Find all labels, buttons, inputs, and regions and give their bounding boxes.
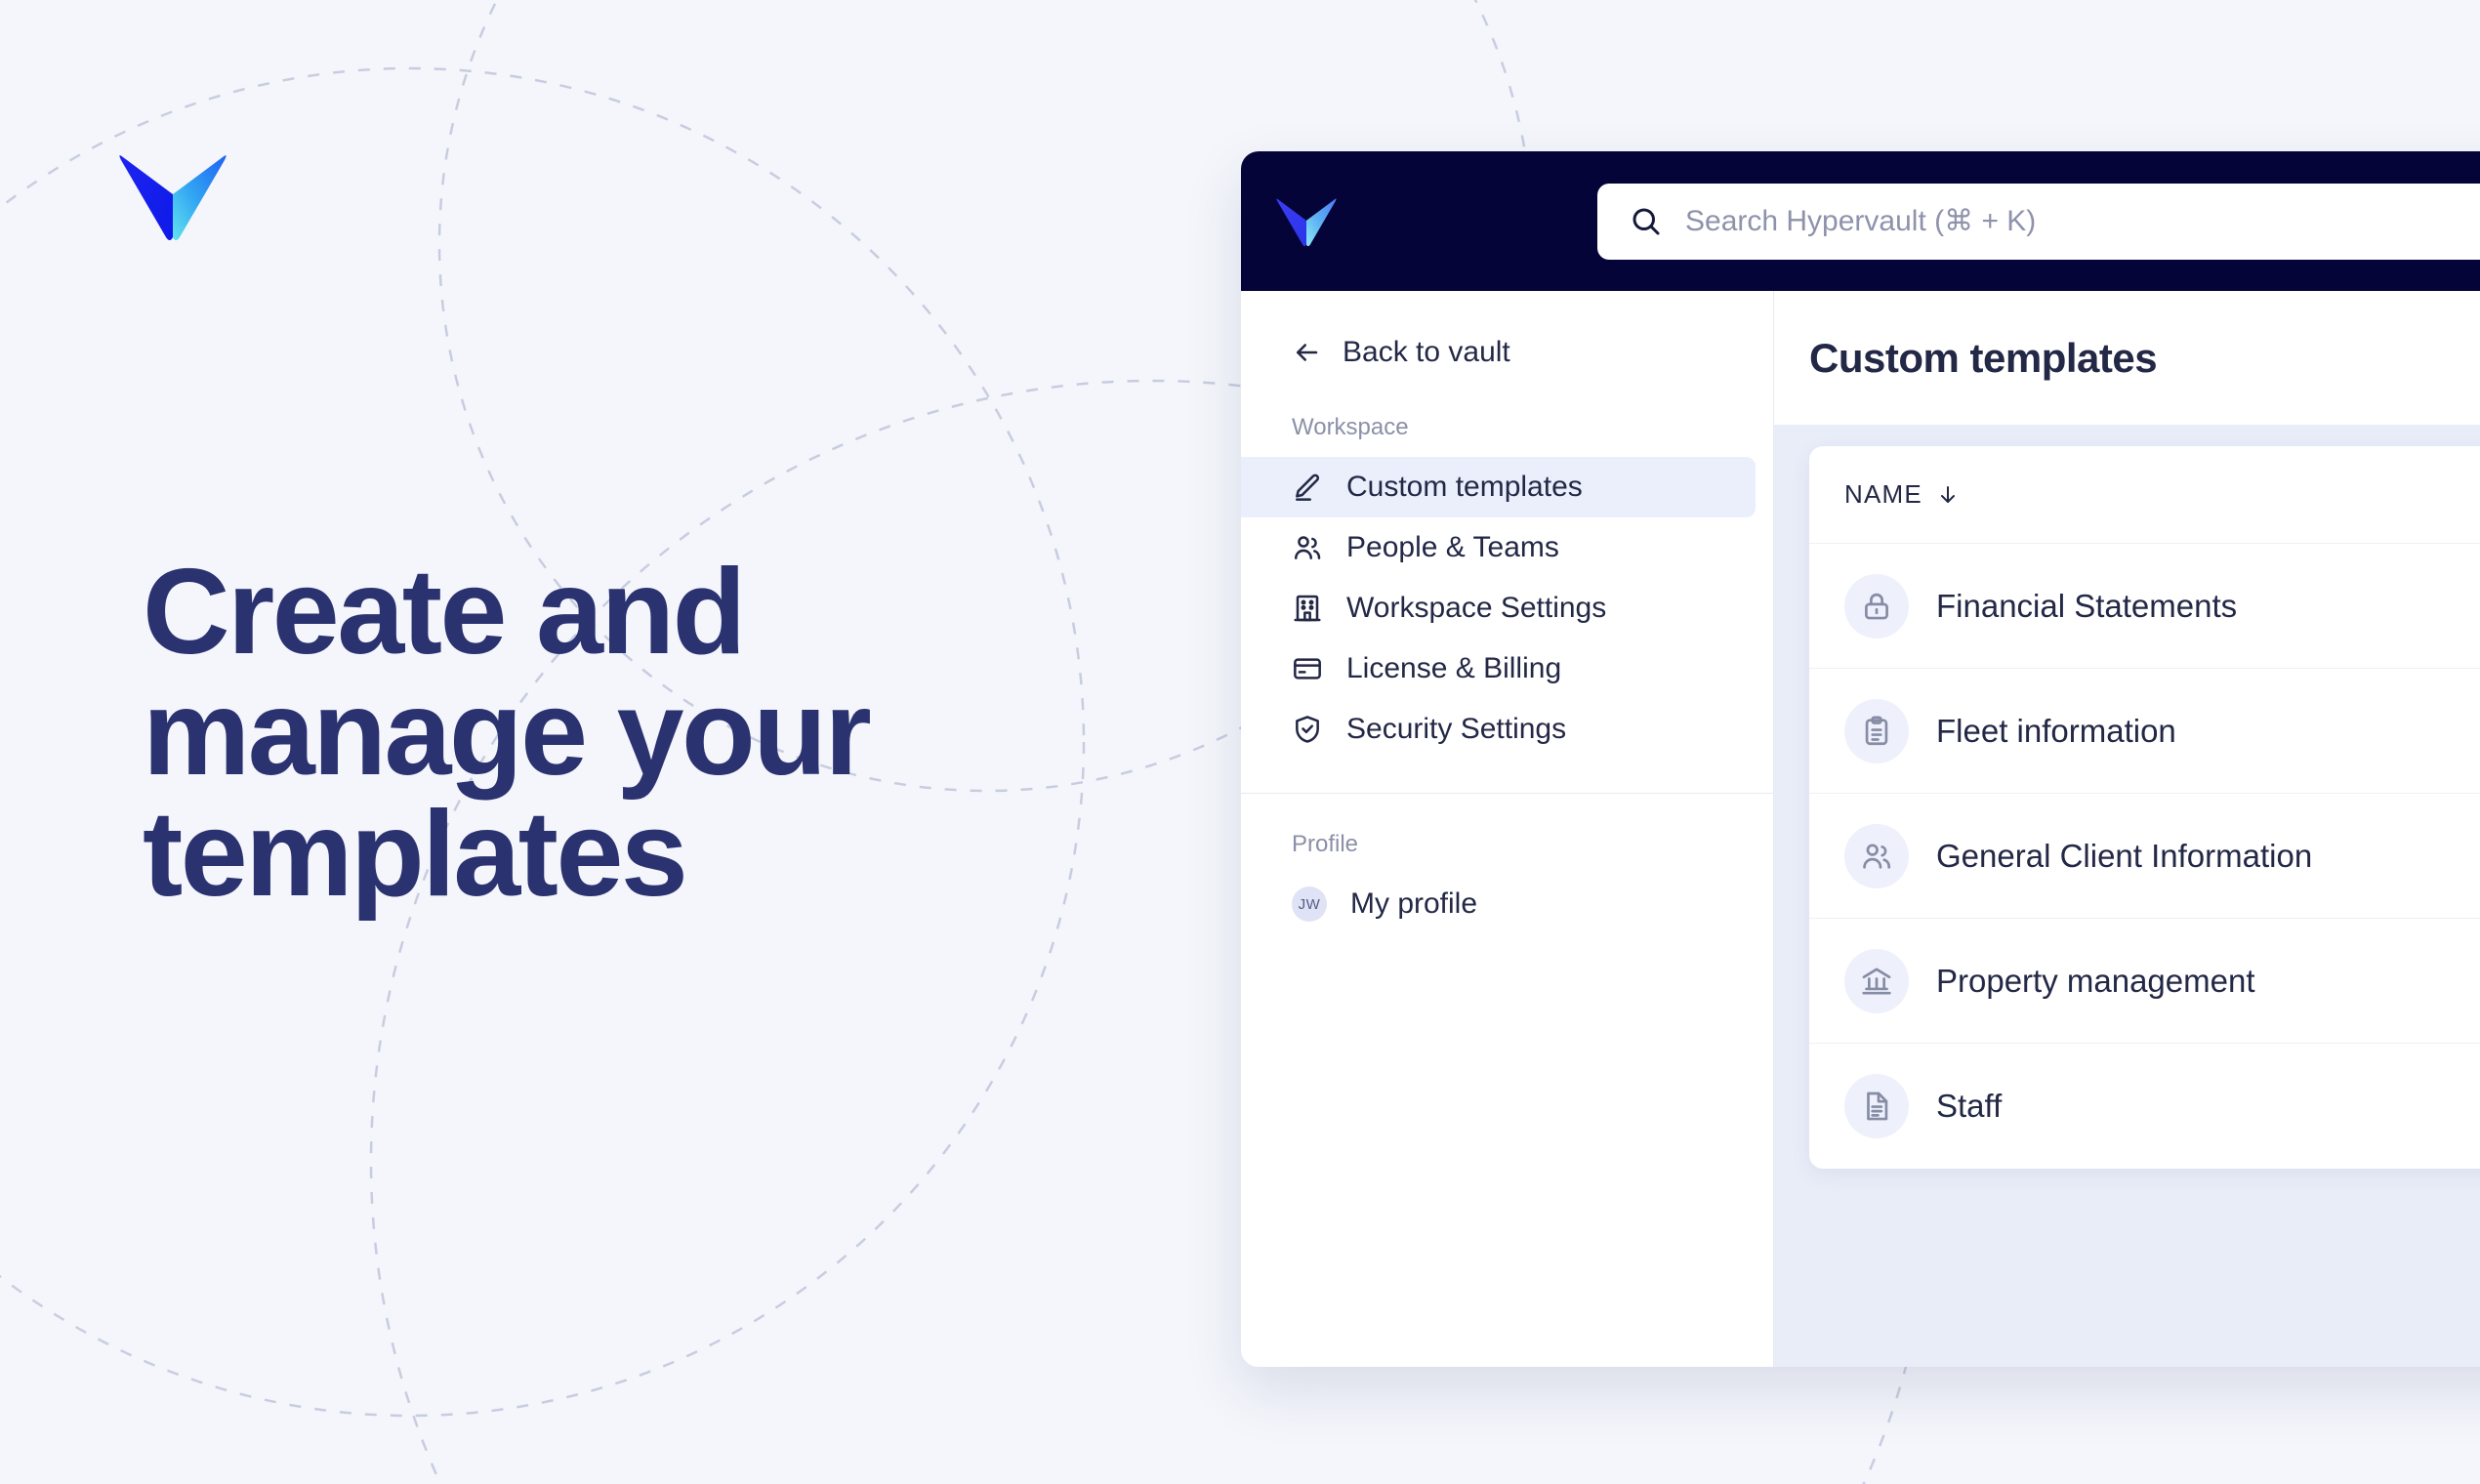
table-row[interactable]: Fleet information (1809, 669, 2480, 794)
page-title-line: templates (143, 794, 1129, 915)
back-to-vault-label: Back to vault (1343, 336, 1510, 369)
sidebar-item-label: License & Billing (1346, 652, 1561, 685)
header-logo-icon[interactable] (1274, 195, 1339, 248)
page-root: Create and manage your templates (0, 0, 2480, 1484)
table-row[interactable]: Staff (1809, 1044, 2480, 1169)
clipboard-icon (1844, 699, 1909, 763)
hero-logo-icon (115, 151, 230, 241)
bank-icon (1844, 949, 1909, 1013)
sidebar-item-custom-templates[interactable]: Custom templates (1241, 457, 1756, 517)
table-header-row: NAME (1809, 446, 2480, 544)
column-header-name[interactable]: NAME (1844, 479, 1960, 510)
table-row[interactable]: Property management (1809, 919, 2480, 1044)
sidebar: Back to vault Workspace Custom templates (1241, 291, 1774, 1367)
app-body: Back to vault Workspace Custom templates (1241, 291, 2480, 1367)
search-input[interactable]: Search Hypervault (⌘ + K) (1597, 184, 2480, 260)
credit-card-icon (1292, 653, 1323, 684)
table-cell-name: Fleet information (1936, 713, 2176, 750)
sidebar-item-security-settings[interactable]: Security Settings (1241, 699, 1756, 760)
arrow-left-icon (1292, 338, 1321, 367)
column-header-name-label: NAME (1844, 479, 1922, 510)
table-cell-name: General Client Information (1936, 838, 2312, 875)
sidebar-section-profile-label: Profile (1241, 831, 1773, 858)
app-header: Search Hypervault (⌘ + K) (1241, 151, 2480, 291)
document-icon (1844, 1074, 1909, 1138)
content-panel: NAME (1774, 425, 2480, 1367)
search-placeholder: Search Hypervault (⌘ + K) (1685, 204, 2036, 238)
table-cell-name: Staff (1936, 1088, 2002, 1125)
arrow-down-icon (1936, 483, 1960, 507)
sidebar-item-label: Security Settings (1346, 713, 1566, 746)
sidebar-item-my-profile[interactable]: JW My profile (1241, 874, 1756, 934)
content-area: Custom templates NAME (1774, 291, 2480, 1367)
table-row[interactable]: Financial Statements (1809, 544, 2480, 669)
app-window: Search Hypervault (⌘ + K) Back to vault … (1241, 151, 2480, 1367)
sidebar-item-license-billing[interactable]: License & Billing (1241, 639, 1756, 699)
content-title: Custom templates (1809, 335, 2157, 382)
table-cell-name: Financial Statements (1936, 588, 2237, 625)
sidebar-item-label: People & Teams (1346, 531, 1559, 564)
page-title-line: manage your (143, 673, 1129, 794)
sidebar-item-people-teams[interactable]: People & Teams (1241, 517, 1756, 578)
pencil-icon (1292, 472, 1323, 503)
sidebar-item-workspace-settings[interactable]: Workspace Settings (1241, 578, 1756, 639)
shield-check-icon (1292, 714, 1323, 745)
page-title-line: Create and (143, 552, 1129, 673)
back-to-vault-button[interactable]: Back to vault (1241, 336, 1773, 369)
people-icon (1844, 824, 1909, 888)
table-row[interactable]: General Client Information (1809, 794, 2480, 919)
sidebar-profile-section: Profile JW My profile (1241, 794, 1773, 934)
sidebar-item-label: Custom templates (1346, 471, 1583, 504)
building-icon (1292, 593, 1323, 624)
search-icon (1629, 204, 1664, 239)
table-cell-name: Property management (1936, 963, 2255, 1000)
content-title-bar: Custom templates (1774, 291, 2480, 425)
page-title: Create and manage your templates (143, 552, 1129, 915)
people-icon (1292, 532, 1323, 563)
sidebar-section-workspace-label: Workspace (1241, 414, 1773, 441)
sidebar-item-label: Workspace Settings (1346, 592, 1606, 625)
templates-table: NAME (1809, 446, 2480, 1169)
sidebar-item-label: My profile (1350, 887, 1477, 921)
avatar: JW (1292, 886, 1327, 922)
lock-icon (1844, 574, 1909, 639)
